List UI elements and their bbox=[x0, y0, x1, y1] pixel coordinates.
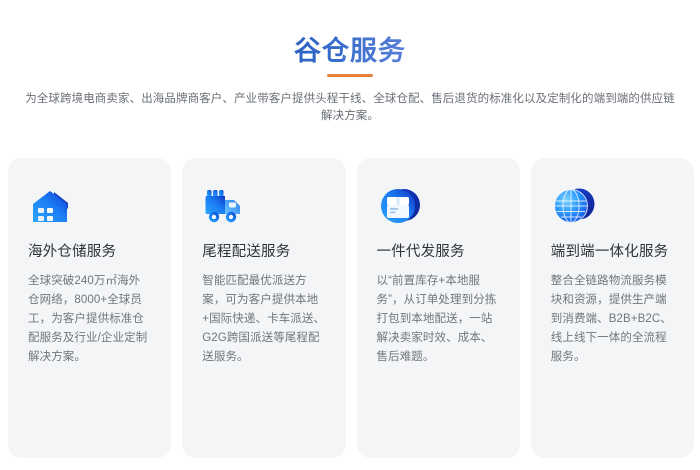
card-body: 智能匹配最优派送方案，可为客户提供本地+国际快递、卡车派送、G2G跨国派送等尾程… bbox=[202, 272, 325, 367]
card-body: 全球突破240万㎡海外仓网络，8000+全球员工，为客户提供标准仓配服务及行业/… bbox=[28, 272, 151, 367]
service-card-list: 海外仓储服务 全球突破240万㎡海外仓网络，8000+全球员工，为客户提供标准仓… bbox=[8, 158, 694, 458]
service-card-end-to-end[interactable]: 端到端一体化服务 整合全链路物流服务模块和资源，提供生产端到消费端、B2B+B2… bbox=[531, 158, 694, 458]
title-underline bbox=[327, 74, 373, 77]
service-card-dropshipping[interactable]: 一件代发服务 以“前置库存+本地服务”，从订单处理到分拣打包到本地配送，一站解决… bbox=[357, 158, 520, 458]
card-title: 海外仓储服务 bbox=[28, 242, 151, 263]
card-body: 以“前置库存+本地服务”，从订单处理到分拣打包到本地配送，一站解决卖家时效、成本… bbox=[377, 272, 500, 367]
warehouse-icon bbox=[28, 184, 74, 228]
card-title: 尾程配送服务 bbox=[202, 242, 325, 263]
page-title: 谷仓服务 bbox=[294, 34, 406, 68]
service-section: 谷仓服务 为全球跨境电商卖家、出海品牌商客户、产业带客户提供头程干线、全球仓配、… bbox=[0, 0, 700, 470]
service-card-last-mile-delivery[interactable]: 尾程配送服务 智能匹配最优派送方案，可为客户提供本地+国际快递、卡车派送、G2G… bbox=[182, 158, 345, 458]
section-subtitle: 为全球跨境电商卖家、出海品牌商客户、产业带客户提供头程干线、全球仓配、售后退货的… bbox=[25, 91, 675, 125]
delivery-truck-icon bbox=[202, 184, 248, 228]
card-title: 端到端一体化服务 bbox=[551, 242, 674, 263]
card-body: 整合全链路物流服务模块和资源，提供生产端到消费端、B2B+B2C、线上线下一体的… bbox=[551, 272, 674, 367]
globe-icon bbox=[551, 184, 597, 228]
card-title: 一件代发服务 bbox=[377, 242, 500, 263]
service-card-overseas-warehousing[interactable]: 海外仓储服务 全球突破240万㎡海外仓网络，8000+全球员工，为客户提供标准仓… bbox=[8, 158, 171, 458]
parcel-box-icon bbox=[377, 184, 423, 228]
section-header: 谷仓服务 为全球跨境电商卖家、出海品牌商客户、产业带客户提供头程干线、全球仓配、… bbox=[0, 0, 700, 125]
